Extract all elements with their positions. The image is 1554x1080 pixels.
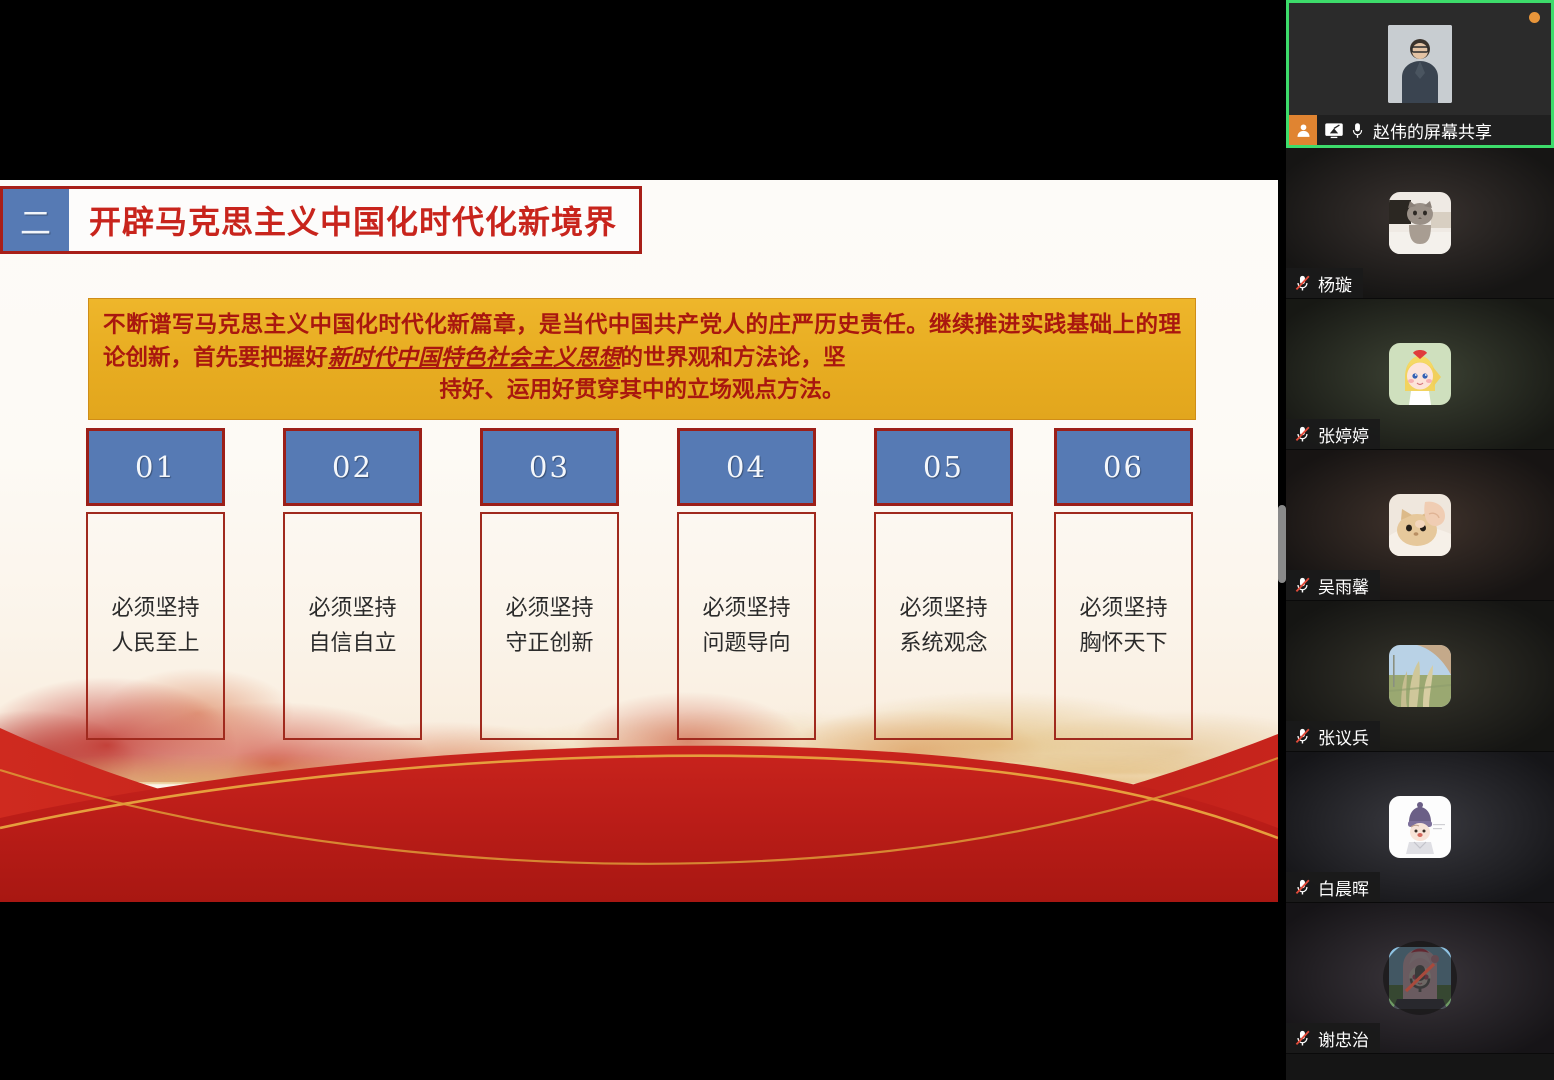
principle-number-badge: 06 [1054,428,1193,506]
host-name-label: 赵伟的屏幕共享 [1373,118,1492,143]
participant-name-label: 谢忠治 [1318,1026,1369,1051]
principle-column-05[interactable]: 05 必须坚持 系统观念 [874,428,1013,740]
principle-line2: 系统观念 [899,631,987,656]
principle-column-03[interactable]: 03 必须坚持 守正创新 [480,428,619,740]
participant-name-label: 白晨晖 [1318,875,1369,900]
principle-line2: 胸怀天下 [1079,631,1167,656]
host-video-thumbnail [1388,25,1452,103]
principle-line1: 必须坚持 [702,596,790,621]
microphone-muted-icon [1295,727,1311,745]
slide-title-bar: 二 开辟马克思主义中国化时代化新境界 [0,186,642,254]
microphone-muted-icon [1295,274,1311,292]
principle-line1: 必须坚持 [111,596,199,621]
principle-line2: 人民至上 [111,631,199,656]
participant-name-bar: 谢忠治 [1286,1023,1380,1053]
participant-name-bar: 张议兵 [1286,721,1380,751]
principle-line1: 必须坚持 [505,596,593,621]
presentation-slide[interactable]: 二 开辟马克思主义中国化时代化新境界 不断谱写马克思主义中国化时代化新篇章，是当… [0,180,1278,902]
participant-name-bar: 张婷婷 [1286,419,1380,449]
slide-section-number: 二 [3,189,69,251]
principle-line2: 自信自立 [308,631,396,656]
cat-with-hand-avatar [1389,494,1451,556]
anime-girl-avatar [1389,343,1451,405]
microphone-muted-icon [1295,1029,1311,1047]
principle-number-badge: 01 [86,428,225,506]
participant-name-bar: 白晨晖 [1286,872,1380,902]
host-name-bar: 赵伟的屏幕共享 [1289,115,1551,145]
participant-name-label: 杨璇 [1318,271,1352,296]
callout-text-part3: 持好、运用好贯穿其中的立场观点方法。 [103,374,1181,407]
principle-line2: 问题导向 [702,631,790,656]
participant-tile[interactable]: 吴雨馨 [1286,450,1554,601]
participant-list-scrollbar-thumb[interactable] [1278,505,1286,583]
participant-tile[interactable]: 谢忠治 [1286,903,1554,1054]
purple-hat-character-avatar [1389,796,1451,858]
microphone-muted-icon [1295,576,1311,594]
shared-screen-area[interactable]: 二 开辟马克思主义中国化时代化新境界 不断谱写马克思主义中国化时代化新篇章，是当… [0,0,1286,1080]
microphone-muted-icon [1295,878,1311,896]
principle-column-06[interactable]: 06 必须坚持 胸怀天下 [1054,428,1193,740]
principle-number-badge: 03 [480,428,619,506]
principle-number-badge: 04 [677,428,816,506]
principle-line1: 必须坚持 [1079,596,1167,621]
screen-share-icon [1324,122,1344,139]
participant-name-label: 张议兵 [1318,724,1369,749]
participant-name-bar: 吴雨馨 [1286,570,1380,600]
principle-body: 必须坚持 问题导向 [677,512,816,740]
participant-tile[interactable]: 杨璇 [1286,148,1554,299]
principle-number-badge: 02 [283,428,422,506]
principle-number-badge: 05 [874,428,1013,506]
principle-body: 必须坚持 系统观念 [874,512,1013,740]
six-principles-group: 01 必须坚持 人民至上 02 必须坚持 自信自立 03 [86,428,1196,758]
participant-video-strip[interactable]: 赵伟的屏幕共享 [1286,0,1554,1080]
principle-body: 必须坚持 自信自立 [283,512,422,740]
principle-body: 必须坚持 守正创新 [480,512,619,740]
callout-text-part2: 的世界观和方法论，坚 [621,345,846,371]
cat-photo-avatar [1389,192,1451,254]
zoom-meeting-window: 二 开辟马克思主义中国化时代化新境界 不断谱写马克思主义中国化时代化新篇章，是当… [0,0,1554,1080]
participant-name-label: 张婷婷 [1318,422,1369,447]
highlight-callout-box: 不断谱写马克思主义中国化时代化新篇章，是当代中国共产党人的庄严历史责任。继续推进… [88,298,1196,420]
principle-line1: 必须坚持 [899,596,987,621]
grass-field-photo-avatar [1389,645,1451,707]
principle-column-04[interactable]: 04 必须坚持 问题导向 [677,428,816,740]
slide-title-text: 开辟马克思主义中国化时代化新境界 [69,189,639,251]
participant-tile[interactable]: 白晨晖 [1286,752,1554,903]
principle-body: 必须坚持 胸怀天下 [1054,512,1193,740]
principle-line1: 必须坚持 [308,596,396,621]
microphone-icon [1351,121,1364,140]
callout-highlight-phrase: 新时代中国特色社会主义思想 [328,345,621,371]
principle-column-02[interactable]: 02 必须坚持 自信自立 [283,428,422,740]
principle-column-01[interactable]: 01 必须坚持 人民至上 [86,428,225,740]
participant-tile-host[interactable]: 赵伟的屏幕共享 [1286,0,1554,148]
participant-name-bar: 杨璇 [1286,268,1363,298]
principle-line2: 守正创新 [505,631,593,656]
principle-body: 必须坚持 人民至上 [86,512,225,740]
participant-tile[interactable]: 张议兵 [1286,601,1554,752]
recording-status-dot [1529,12,1540,23]
participant-tile[interactable]: 张婷婷 [1286,299,1554,450]
muted-overlay-badge [1383,941,1457,1015]
participant-name-label: 吴雨馨 [1318,573,1369,598]
person-icon [1289,115,1317,145]
microphone-muted-icon [1295,425,1311,443]
